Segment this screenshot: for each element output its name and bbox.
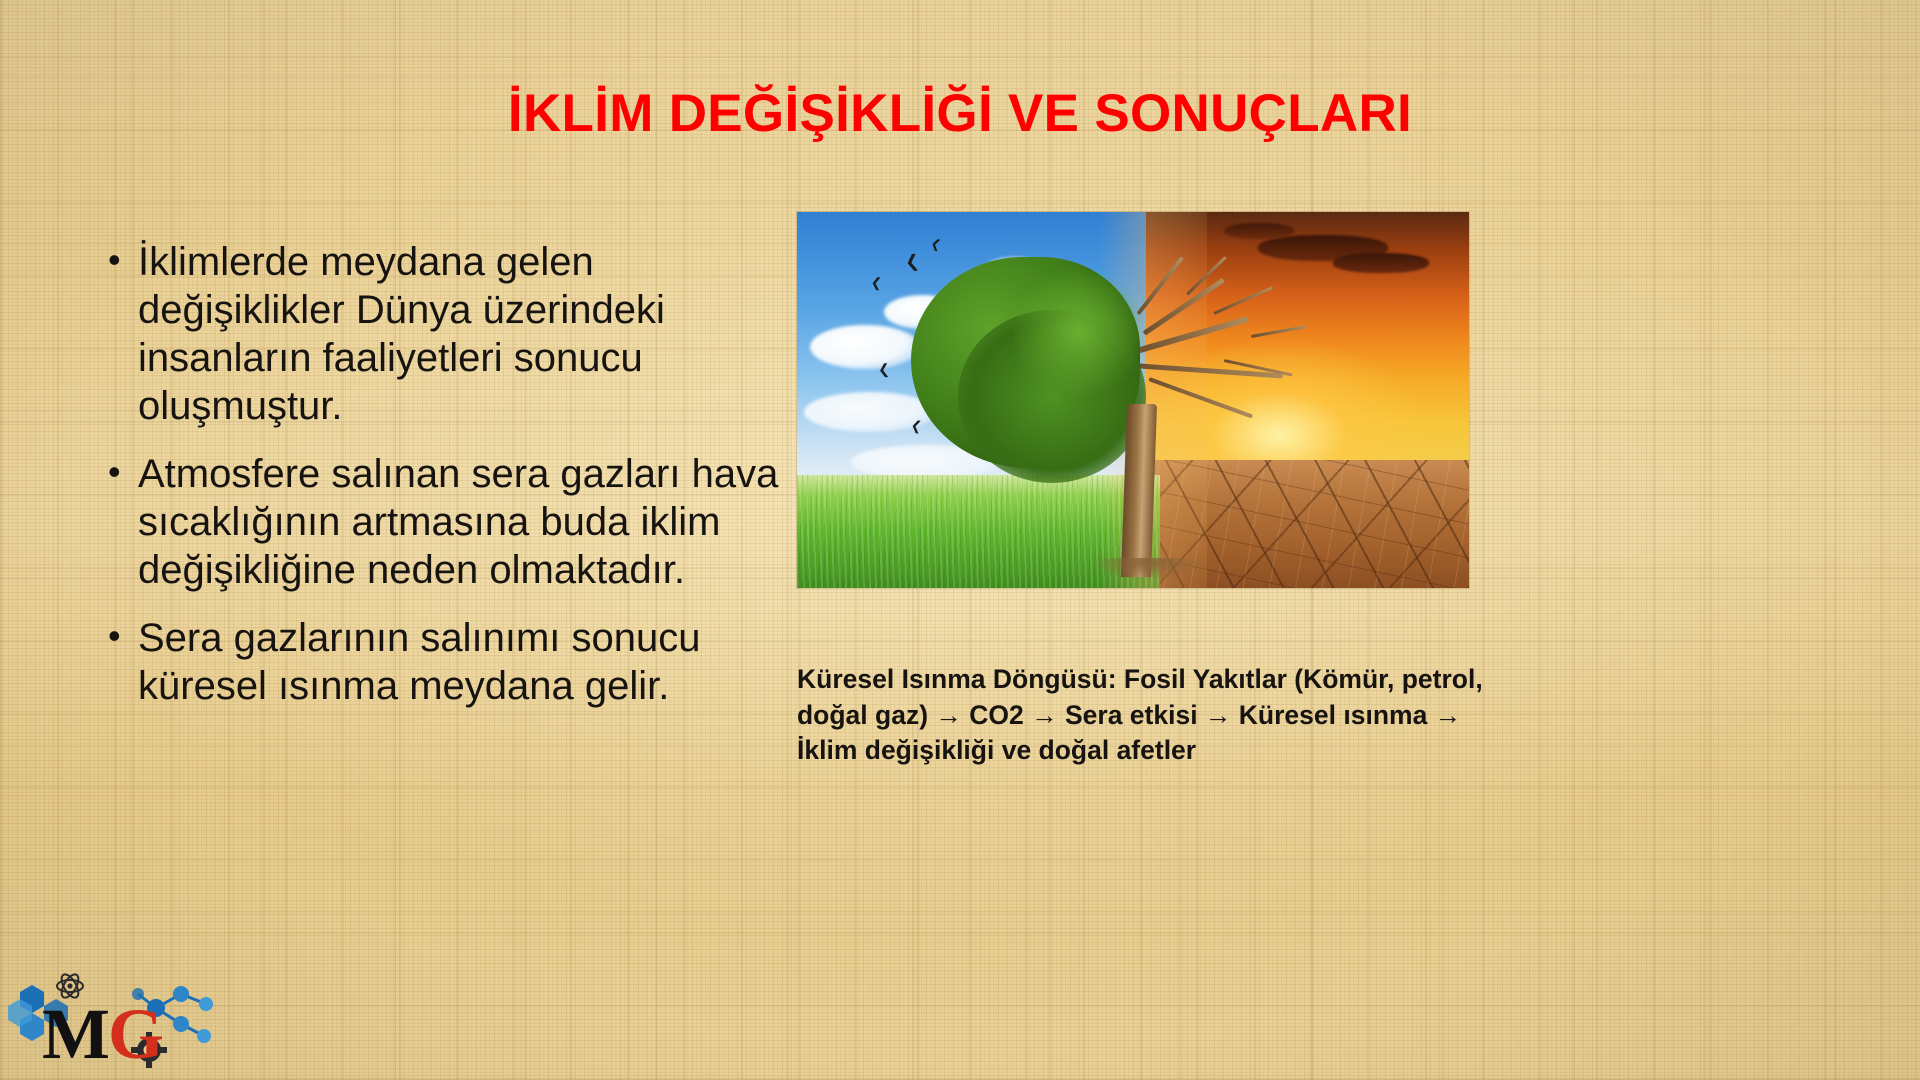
bullet-marker-icon: • [108, 238, 138, 281]
list-item: • Atmosfere salınan sera gazları hava sı… [108, 450, 788, 594]
logo-letter-g: G [108, 994, 162, 1074]
logo-letter-m: M [42, 994, 108, 1074]
bare-branches [1133, 242, 1402, 475]
bullet-text: Sera gazlarının salınımı sonucu küresel … [138, 614, 788, 710]
image-scene: ❮ ❮ ❮ ❮ ❮ [797, 212, 1469, 588]
cloud-icon [810, 325, 920, 369]
dark-cloud-icon [1224, 223, 1294, 239]
branch [1213, 286, 1273, 315]
logo: MG [6, 964, 236, 1074]
branch [1137, 256, 1184, 315]
branch [1251, 326, 1307, 339]
bullet-text: Atmosfere salınan sera gazları hava sıca… [138, 450, 788, 594]
slide-title: İKLİM DEĞİŞİKLİĞİ VE SONUÇLARI [0, 86, 1920, 142]
list-item: • İklimlerde meydana gelen değişiklikler… [108, 238, 788, 430]
branch [1148, 377, 1253, 418]
climate-change-image: ❮ ❮ ❮ ❮ ❮ [797, 212, 1469, 588]
tree-trunk [1121, 404, 1157, 577]
bullet-list: • İklimlerde meydana gelen değişiklikler… [108, 238, 788, 710]
list-item: • Sera gazlarının salınımı sonucu kürese… [108, 614, 788, 710]
bullet-marker-icon: • [108, 614, 138, 657]
bullet-text: İklimlerde meydana gelen değişiklikler D… [138, 238, 788, 430]
bullet-marker-icon: • [108, 450, 138, 493]
bird-icon: ❮ [877, 362, 890, 377]
branch [1132, 316, 1249, 355]
tree-root-base [1093, 558, 1203, 580]
tree-canopy [1012, 268, 1146, 396]
branch [1133, 363, 1283, 378]
figure-caption: Küresel Isınma Döngüsü: Fosil Yakıtlar (… [797, 662, 1497, 769]
bird-icon: ❮ [903, 252, 919, 271]
presentation-slide: İKLİM DEĞİŞİKLİĞİ VE SONUÇLARI • İklimle… [0, 0, 1920, 1080]
bird-icon: ❮ [870, 275, 882, 289]
logo-wordmark: MG [42, 998, 162, 1070]
